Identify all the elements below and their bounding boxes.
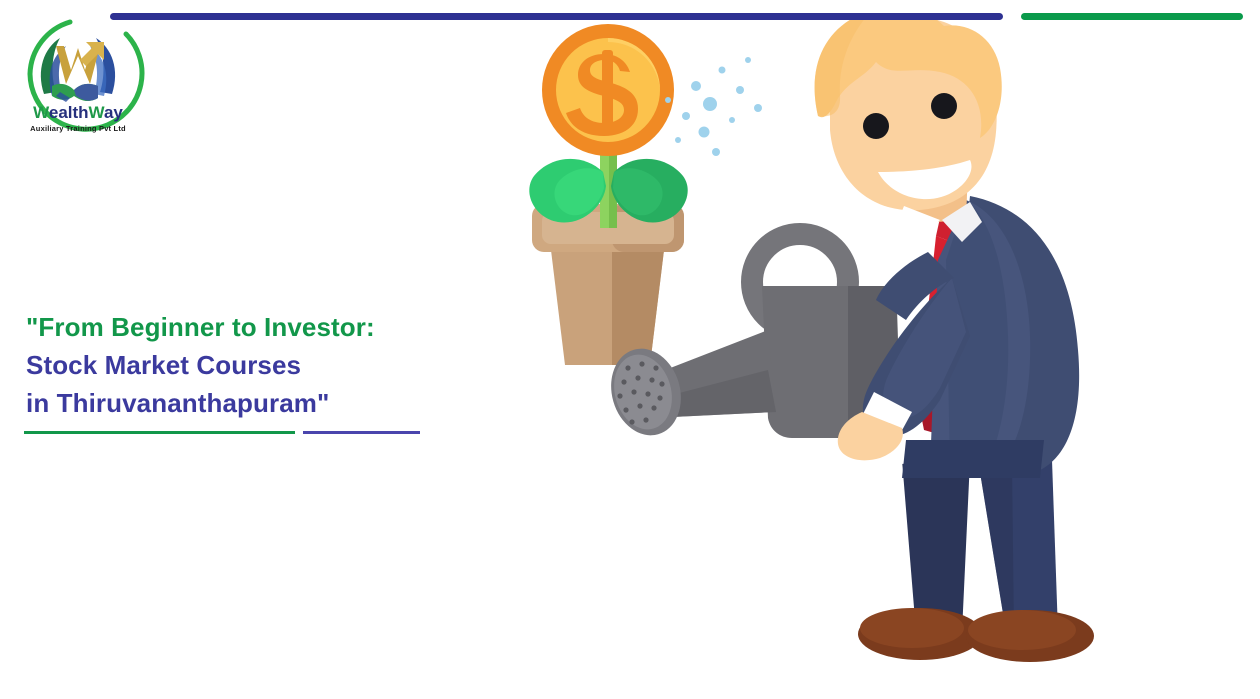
head [815, 20, 1002, 210]
logo-tagline-text: Auxiliary Training Pvt Ltd [30, 124, 126, 133]
headline-line-3: in Thiruvananthapuram" [26, 384, 456, 422]
water-droplets-icon [665, 57, 762, 156]
hero-illustration [500, 20, 1140, 685]
brand-logo[interactable]: WealthWay Auxiliary Training Pvt Ltd [8, 12, 148, 140]
headline-underline-group [24, 431, 444, 436]
logo-handshake-icon [52, 84, 98, 102]
shoes-icon [858, 608, 1094, 662]
logo-brand-text: WealthWay [33, 103, 123, 122]
logo-brand-w1: W [33, 103, 50, 122]
leg-far [902, 460, 970, 632]
top-rule-blue [110, 13, 1003, 20]
underline-blue [303, 431, 420, 434]
jacket-hem [902, 440, 1044, 478]
coin-flower-icon [542, 24, 674, 156]
underline-green [24, 431, 295, 434]
flower-pot-icon [532, 204, 684, 365]
eye-right-icon [931, 93, 957, 119]
headline-block: "From Beginner to Investor: Stock Market… [26, 308, 456, 422]
banner-root: WealthWay Auxiliary Training Pvt Ltd "Fr… [0, 0, 1260, 699]
top-rule-green [1021, 13, 1243, 20]
eye-left-icon [863, 113, 889, 139]
headline-line-1: "From Beginner to Investor: [26, 308, 456, 346]
headline-line-2: Stock Market Courses [26, 346, 456, 384]
